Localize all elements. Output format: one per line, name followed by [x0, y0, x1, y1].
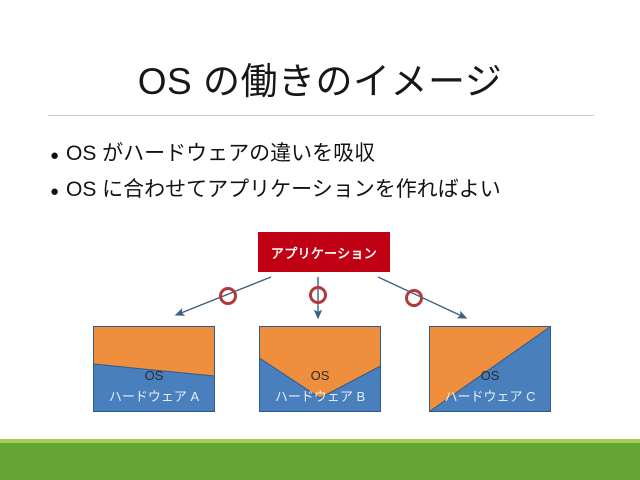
- platform-box-a[interactable]: OS ハードウェア A: [93, 326, 215, 412]
- arrow-to-platform-a: [176, 277, 271, 315]
- footer-accent-bar: [0, 443, 640, 480]
- application-box-label: アプリケーション: [271, 243, 377, 262]
- slide-canvas: OS の働きのイメージ ● OS がハードウェアの違いを吸収 ● OS に合わせ…: [0, 0, 640, 480]
- application-box[interactable]: アプリケーション: [258, 232, 390, 272]
- blocked-marker-icon: [407, 291, 422, 306]
- platform-box-b[interactable]: OS ハードウェア B: [259, 326, 381, 412]
- platform-box-c[interactable]: OS ハードウェア C: [429, 326, 551, 412]
